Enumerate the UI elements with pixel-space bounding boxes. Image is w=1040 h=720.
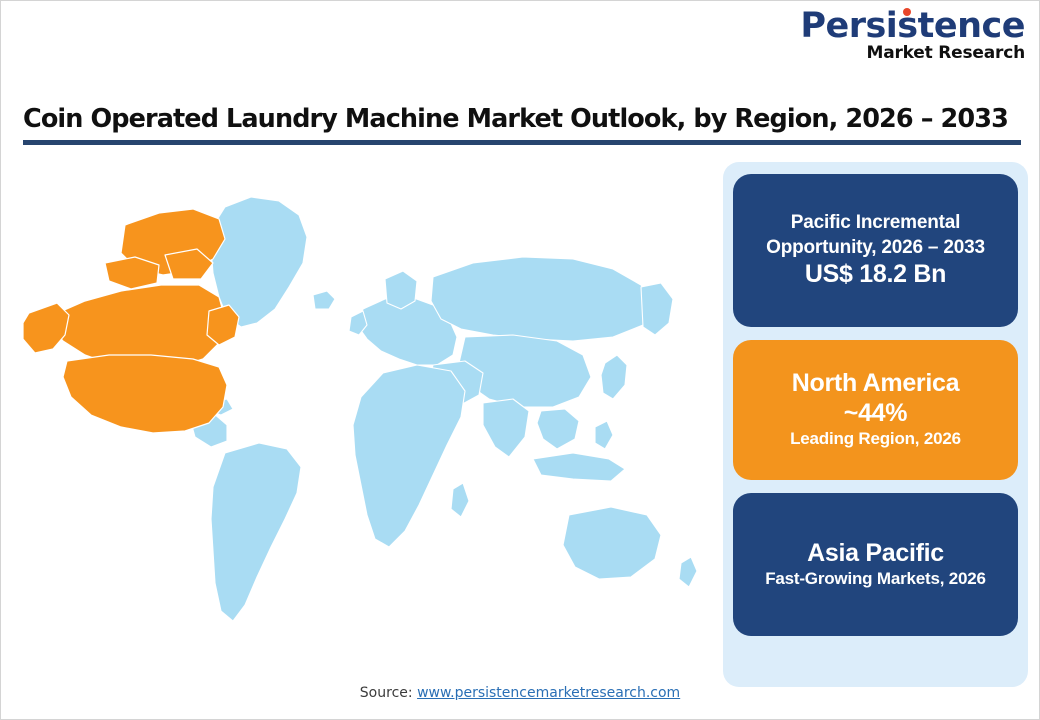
card-1-heading: Pacific Incremental Opportunity, 2026 – … [747, 211, 1004, 260]
region-iceland [313, 291, 335, 309]
page-title: Coin Operated Laundry Machine Market Out… [23, 104, 1021, 134]
region-new-zealand [679, 557, 697, 587]
card-3-sub: Fast-Growing Markets, 2026 [765, 568, 986, 590]
source-link[interactable]: www.persistencemarketresearch.com [417, 685, 680, 701]
world-map [13, 159, 713, 669]
region-australia [563, 507, 661, 579]
stats-panel: Pacific Incremental Opportunity, 2026 – … [723, 162, 1028, 687]
region-africa [353, 365, 465, 547]
region-philippines [595, 421, 613, 449]
logo-wordmark: Persistence [800, 9, 1025, 44]
region-madagascar [451, 483, 469, 517]
region-japan [601, 355, 627, 399]
card-2-sub: Leading Region, 2026 [790, 428, 961, 450]
region-labrador [207, 305, 239, 345]
logo-name: Persistence [800, 6, 1025, 46]
region-united-states [63, 355, 227, 433]
card-leading-region[interactable]: North America ~44% Leading Region, 2026 [733, 340, 1018, 480]
region-far-east-russia [641, 283, 673, 335]
map-highlighted-regions [23, 209, 239, 433]
region-alaska [23, 303, 69, 353]
region-canada-arctic-2 [105, 257, 159, 289]
card-fast-growing-region[interactable]: Asia Pacific Fast-Growing Markets, 2026 [733, 493, 1018, 636]
card-pacific-incremental-opportunity[interactable]: Pacific Incremental Opportunity, 2026 – … [733, 174, 1018, 327]
card-2-value: ~44% [844, 399, 907, 429]
region-indonesia [533, 453, 625, 481]
source-label: Source: [360, 685, 413, 701]
card-2-heading: North America [792, 369, 959, 399]
region-south-america [211, 443, 301, 621]
region-russia [431, 257, 653, 341]
region-southeast-asia [537, 409, 579, 449]
title-underline [23, 140, 1021, 145]
logo-tagline: Market Research [800, 45, 1025, 62]
infographic-root: Persistence Market Research Coin Operate… [0, 0, 1040, 720]
world-map-svg [13, 159, 713, 669]
card-1-value: US$ 18.2 Bn [805, 260, 946, 290]
map-base-regions [189, 197, 697, 621]
region-india [483, 399, 529, 457]
page-title-block: Coin Operated Laundry Machine Market Out… [23, 104, 1021, 145]
card-3-heading: Asia Pacific [807, 539, 944, 569]
brand-logo: Persistence Market Research [800, 9, 1025, 62]
source-line: Source: www.persistencemarketresearch.co… [1, 685, 1039, 701]
